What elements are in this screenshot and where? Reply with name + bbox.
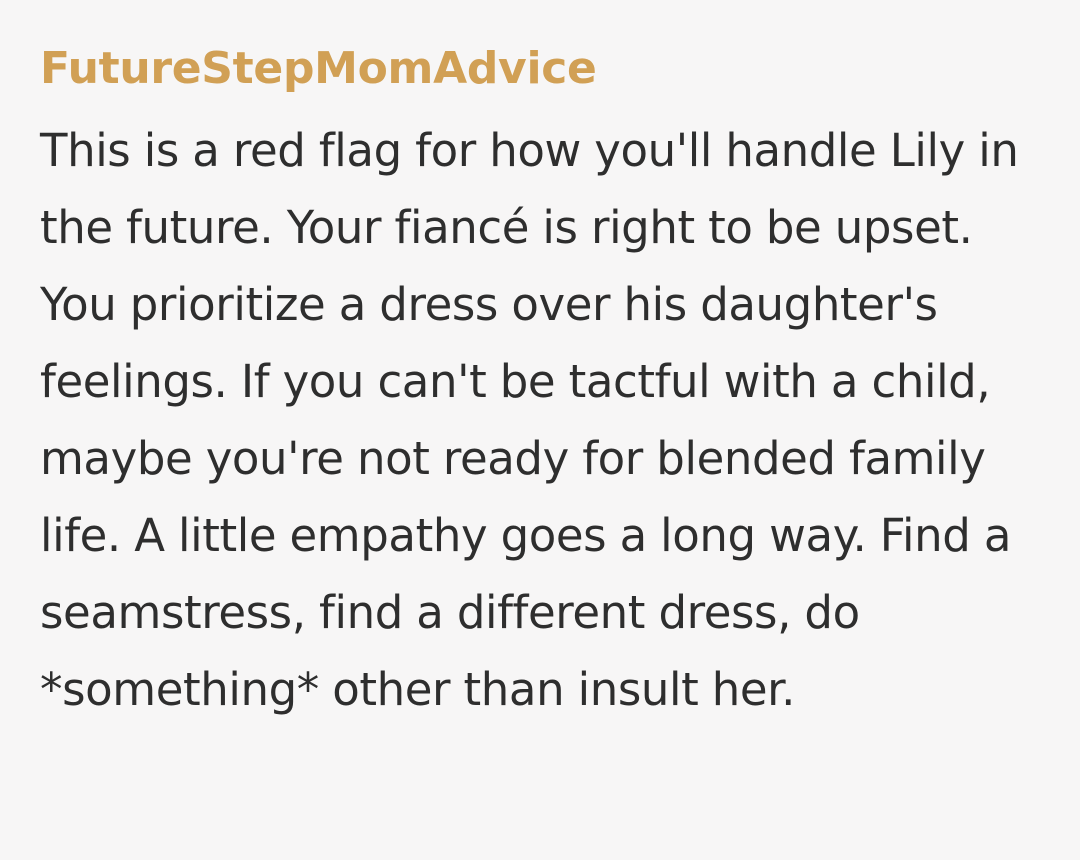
comment-body-text: This is a red flag for how you'll handle… <box>40 112 1035 728</box>
comment-author-username[interactable]: FutureStepMomAdvice <box>40 42 1032 96</box>
comment-card: FutureStepMomAdvice This is a red flag f… <box>0 0 1080 860</box>
